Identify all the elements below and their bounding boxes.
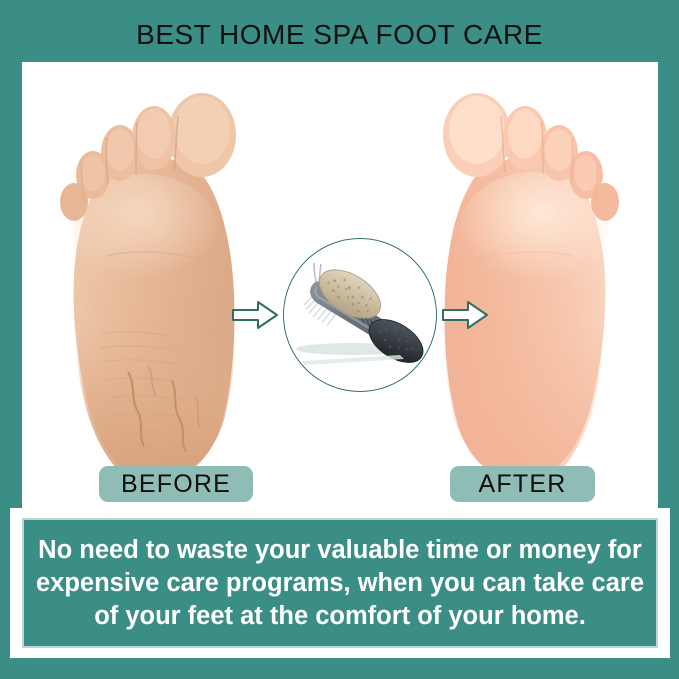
- after-label: AFTER: [450, 466, 595, 502]
- page-title: BEST HOME SPA FOOT CARE: [0, 18, 679, 52]
- arrow-right-icon-right: [440, 299, 490, 331]
- caption-gutter-left: [10, 508, 22, 658]
- photo-panel: BEFORE AFTER: [22, 62, 658, 508]
- after-foot-image: [414, 80, 629, 495]
- caption-gutter-top: [10, 508, 670, 518]
- before-label: BEFORE: [99, 466, 253, 502]
- caption-text: No need to waste your valuable time or m…: [24, 534, 656, 633]
- foot-file-tool-icon: [283, 238, 437, 392]
- arrow-right-icon-left: [230, 299, 280, 331]
- before-foot-image: [50, 80, 265, 495]
- poster-root: BEST HOME SPA FOOT CARE: [0, 0, 679, 679]
- caption-gutter-right: [658, 508, 670, 658]
- caption-box: No need to waste your valuable time or m…: [22, 518, 658, 648]
- caption-gutter-bottom: [10, 648, 670, 658]
